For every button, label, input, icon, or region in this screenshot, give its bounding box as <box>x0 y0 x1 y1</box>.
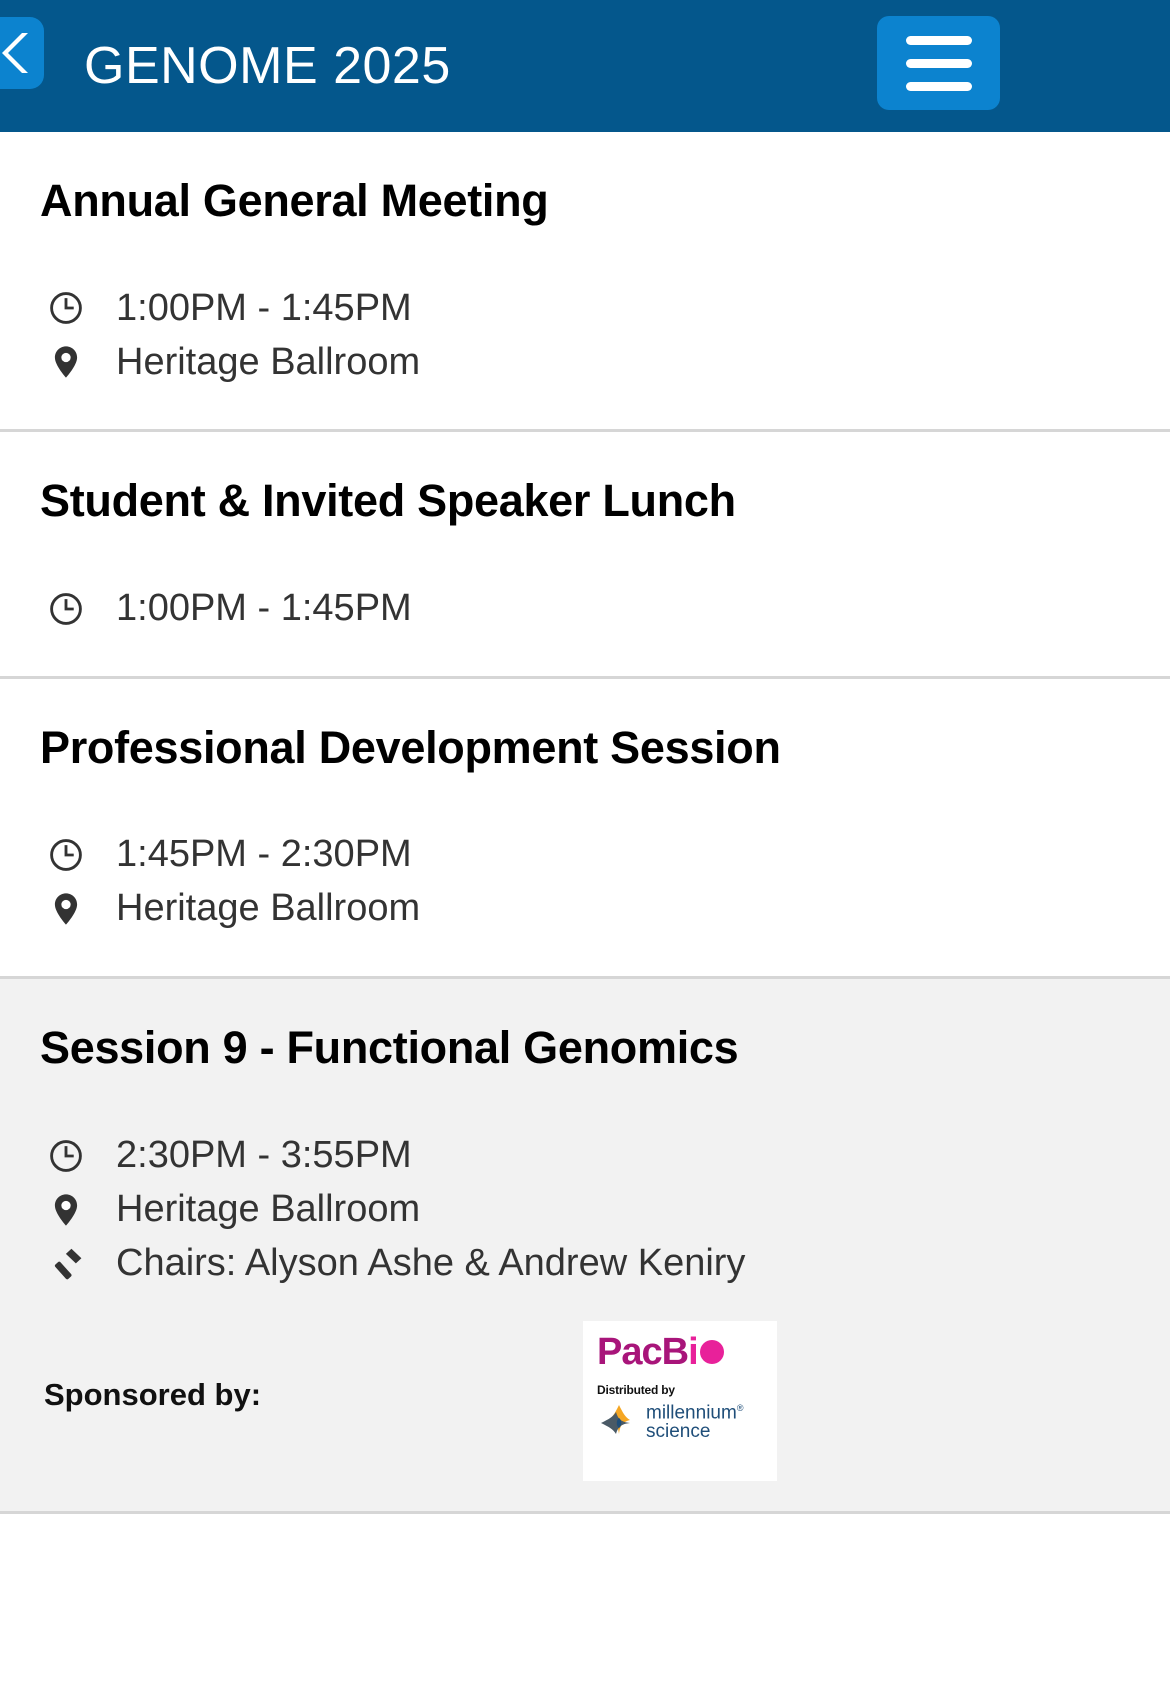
session-title: Session 9 - Functional Genomics <box>40 1023 1130 1073</box>
hamburger-bar-3 <box>906 82 972 91</box>
session-item[interactable]: Student & Invited Speaker Lunch 1:00PM -… <box>0 432 1170 678</box>
session-title: Student & Invited Speaker Lunch <box>40 476 1130 526</box>
hamburger-menu-icon <box>906 36 972 45</box>
session-list: Annual General Meeting 1:00PM - 1:45PM H… <box>0 132 1170 1514</box>
hamburger-bar-2 <box>906 59 972 68</box>
session-time: 1:00PM - 1:45PM <box>98 585 412 633</box>
registered-mark-icon: ® <box>737 1403 744 1413</box>
clock-icon <box>40 837 98 873</box>
session-title: Annual General Meeting <box>40 176 1130 226</box>
session-time-row: 1:00PM - 1:45PM <box>40 582 1130 636</box>
session-chairs: Chairs: Alyson Ashe & Andrew Keniry <box>98 1240 745 1288</box>
sponsored-by-label: Sponsored by: <box>44 1377 261 1413</box>
clock-icon <box>40 591 98 627</box>
session-time-row: 1:00PM - 1:45PM <box>40 281 1130 335</box>
session-time-row: 1:45PM - 2:30PM <box>40 828 1130 882</box>
session-item[interactable]: Session 9 - Functional Genomics 2:30PM -… <box>0 979 1170 1513</box>
session-location: Heritage Ballroom <box>98 1186 420 1234</box>
science-line: science <box>646 1421 710 1442</box>
distributed-by-label: Distributed by <box>597 1383 763 1397</box>
session-location-row: Heritage Ballroom <box>40 1183 1130 1237</box>
session-title: Professional Development Session <box>40 723 1130 773</box>
clock-icon <box>40 1138 98 1174</box>
map-pin-icon <box>40 891 98 927</box>
session-location-row: Heritage Ballroom <box>40 882 1130 936</box>
pacbio-logo: PacBi <box>597 1333 763 1371</box>
app-header: GENOME 2025 <box>0 0 1170 132</box>
session-time: 1:45PM - 2:30PM <box>98 831 412 879</box>
hamburger-menu-button[interactable] <box>877 16 1000 110</box>
pacbio-wordmark-light: i <box>688 1333 698 1371</box>
session-item[interactable]: Professional Development Session 1:45PM … <box>0 679 1170 979</box>
session-chairs-row: Chairs: Alyson Ashe & Andrew Keniry <box>40 1237 1130 1291</box>
session-time: 2:30PM - 3:55PM <box>98 1132 412 1180</box>
session-location: Heritage Ballroom <box>98 885 420 933</box>
millennium-science-wordmark: millennium® science <box>646 1404 743 1442</box>
session-location: Heritage Ballroom <box>98 339 420 387</box>
session-time: 1:00PM - 1:45PM <box>98 285 412 333</box>
pacbio-wordmark-dark: PacB <box>597 1333 688 1371</box>
sponsor-section: Sponsored by: PacBi Distributed by <box>40 1321 1130 1471</box>
page-title: GENOME 2025 <box>84 0 451 132</box>
session-time-row: 2:30PM - 3:55PM <box>40 1129 1130 1183</box>
session-location-row: Heritage Ballroom <box>40 335 1130 389</box>
millennium-science-logo: millennium® science <box>597 1401 763 1445</box>
session-item[interactable]: Annual General Meeting 1:00PM - 1:45PM H… <box>0 132 1170 432</box>
map-pin-icon <box>40 344 98 380</box>
o-dot-icon <box>700 1340 724 1364</box>
back-button[interactable] <box>0 17 44 89</box>
sponsor-logo-card[interactable]: PacBi Distributed by millennium® science <box>583 1321 777 1481</box>
chevron-left-icon <box>0 30 32 76</box>
map-pin-icon <box>40 1192 98 1228</box>
millennium-pinwheel-icon <box>597 1401 641 1445</box>
clock-icon <box>40 290 98 326</box>
gavel-icon <box>40 1245 98 1283</box>
